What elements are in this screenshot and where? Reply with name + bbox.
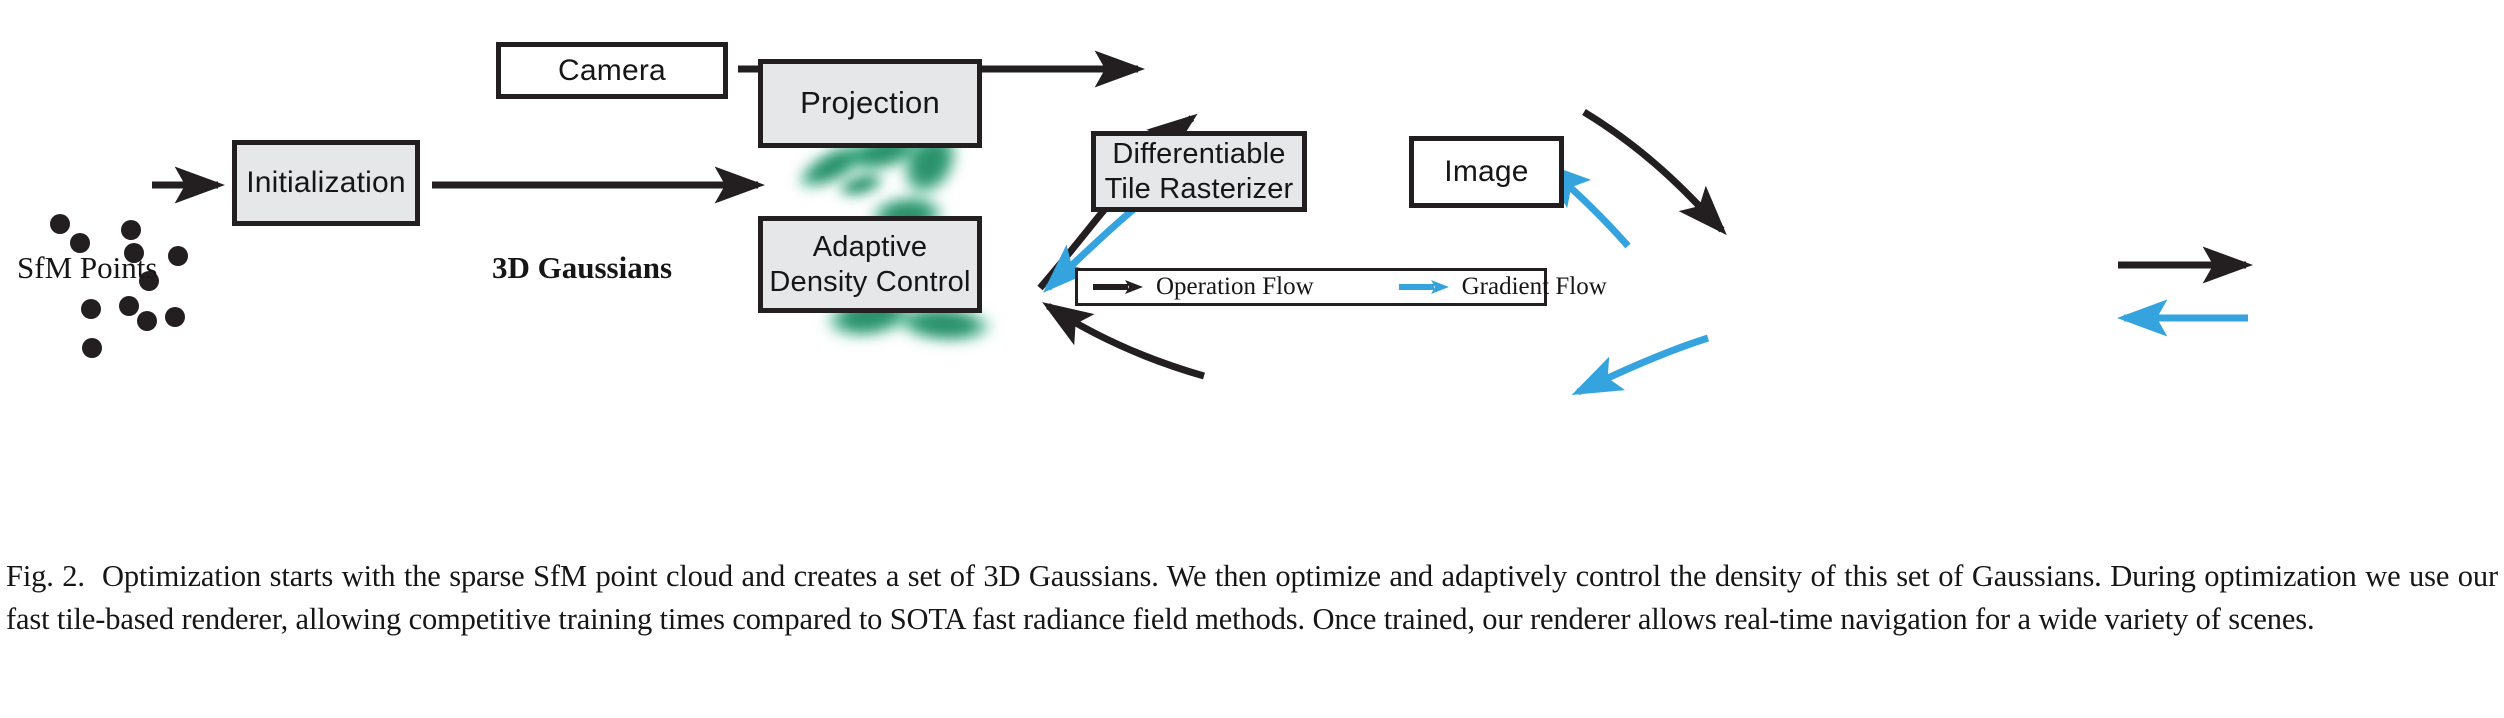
legend-entry-gradient-flow: Gradient Flow (1398, 271, 1607, 303)
sfm-point-cloud (50, 214, 188, 358)
sfm-point (81, 299, 101, 319)
arrow-right-icon (1092, 279, 1144, 295)
figure-caption-text: Optimization starts with the sparse SfM … (6, 559, 2498, 636)
sfm-point (121, 220, 141, 240)
arrow-right-icon (1398, 279, 1450, 295)
node-adaptive-line-1: Adaptive (769, 230, 970, 264)
node-initialization[interactable]: Initialization (232, 140, 420, 226)
legend: Operation Flow Gradient Flow (1075, 268, 1547, 306)
figure-number: Fig. 2. (6, 559, 85, 593)
node-projection[interactable]: Projection (758, 59, 982, 148)
node-camera[interactable]: Camera (496, 42, 728, 99)
node-rasterizer-line-1: Differentiable (1105, 137, 1294, 171)
node-adaptive-line-2: Density Control (769, 265, 970, 299)
gradient-flow-arrow-icon (1398, 279, 1450, 295)
label-sfm-points: SfM Points (17, 250, 157, 286)
legend-entry-operation-flow: Operation Flow (1092, 271, 1314, 303)
node-adaptive-density-control-label: Adaptive Density Control (769, 230, 970, 298)
operation-flow-arrow-icon (1092, 279, 1144, 295)
node-rasterizer-line-2: Tile Rasterizer (1105, 172, 1294, 206)
figure-caption: Fig. 2. Optimization starts with the spa… (6, 555, 2498, 642)
sfm-point (137, 311, 157, 331)
legend-label-gradient-flow: Gradient Flow (1462, 273, 1607, 301)
node-rasterizer-label: Differentiable Tile Rasterizer (1105, 137, 1294, 205)
sfm-point (168, 246, 188, 266)
sfm-point (50, 214, 70, 234)
sfm-point (119, 296, 139, 316)
node-image[interactable]: Image (1409, 136, 1564, 208)
node-adaptive-density-control[interactable]: Adaptive Density Control (758, 216, 982, 313)
label-3d-gaussians: 3D Gaussians (492, 250, 672, 286)
node-projection-label: Projection (800, 85, 940, 122)
edge-projection-to-rasterizer (1584, 112, 1722, 230)
legend-label-operation-flow: Operation Flow (1156, 273, 1314, 301)
node-camera-label: Camera (558, 53, 666, 88)
sfm-point (82, 338, 102, 358)
edge-rasterizer-to-adaptive (1578, 338, 1708, 392)
sfm-point (165, 307, 185, 327)
figure-2: Camera Initialization Projection Adaptiv… (0, 0, 2504, 718)
edge-adaptive-to-gaussians (1048, 306, 1204, 376)
node-initialization-label: Initialization (246, 165, 406, 200)
node-differentiable-tile-rasterizer[interactable]: Differentiable Tile Rasterizer (1091, 131, 1307, 212)
node-image-label: Image (1444, 154, 1528, 189)
